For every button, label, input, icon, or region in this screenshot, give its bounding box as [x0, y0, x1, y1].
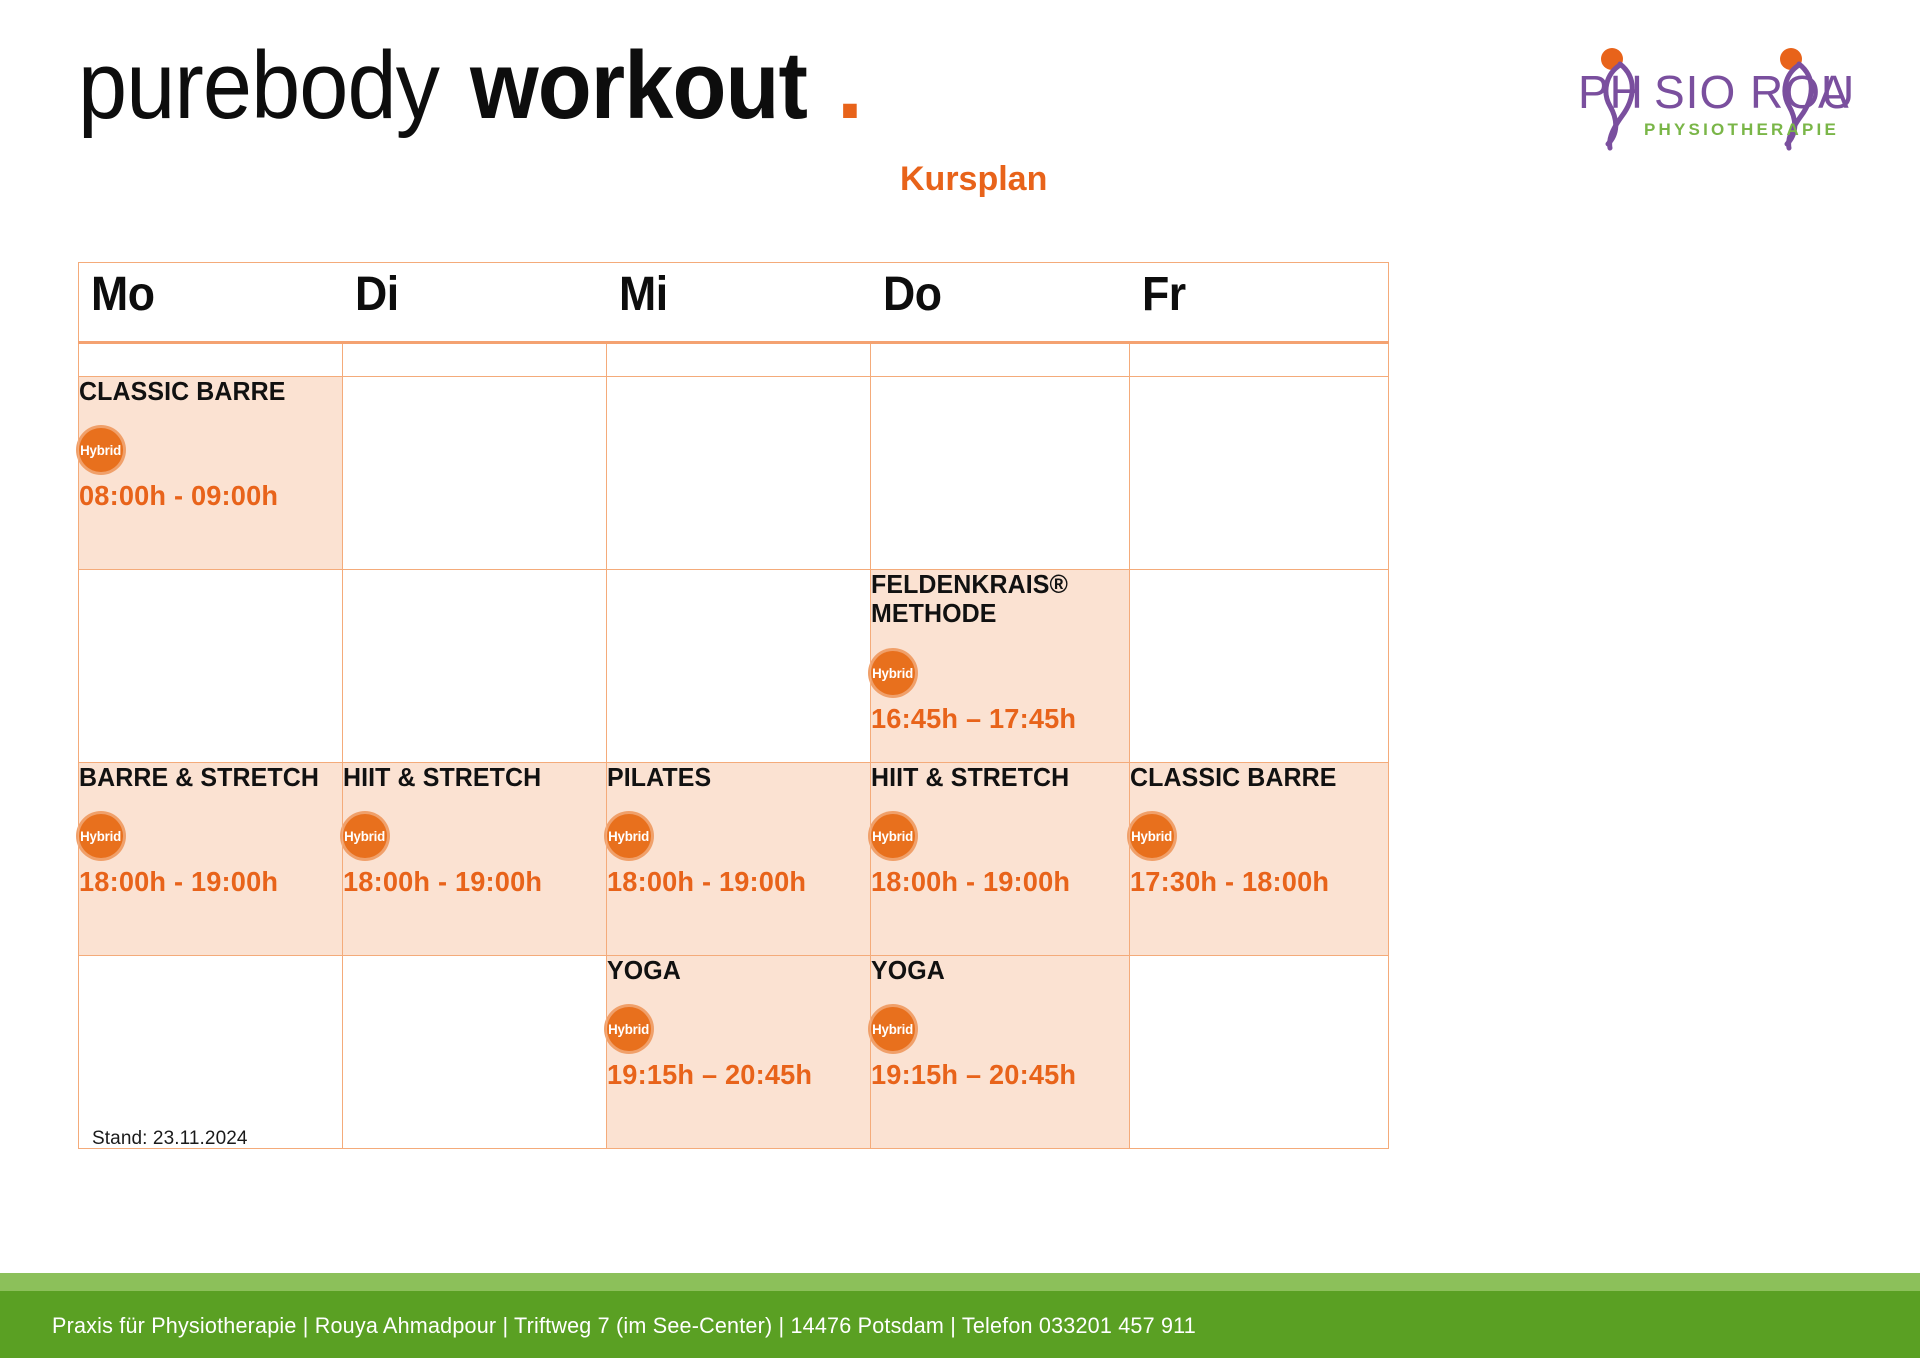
empty-cell: [1130, 570, 1389, 763]
last-updated-note: Stand: 23.11.2024: [92, 1128, 248, 1150]
physio-rousa-logo: PH SIO ROU A PHYSIOTHERAPIE: [1558, 38, 1858, 158]
class-title: HIIT & STRETCH: [343, 763, 595, 792]
class-cell[interactable]: CLASSIC BARREHybrid17:30h - 18:00h: [1130, 763, 1389, 956]
brand-logo: purebodyworkout.: [78, 38, 863, 134]
day-label: Fr: [1142, 267, 1186, 322]
hybrid-badge-label: Hybrid: [609, 828, 650, 844]
class-cell[interactable]: PILATESHybrid18:00h - 19:00h: [607, 763, 871, 956]
class-time: 17:30h - 18:00h: [1130, 866, 1380, 898]
hybrid-badge-icon: Hybrid: [871, 814, 915, 858]
hybrid-badge-icon: Hybrid: [343, 814, 387, 858]
day-header-fr: Fr: [1130, 263, 1389, 343]
day-header-di: Di: [343, 263, 607, 343]
hybrid-badge-label: Hybrid: [609, 1021, 650, 1037]
class-time: 08:00h - 09:00h: [79, 480, 334, 512]
class-title: PILATES: [607, 763, 859, 792]
class-schedule-table: Mo Di Mi Do Fr CLASSIC BARREHybrid08:00h…: [78, 262, 1389, 1149]
empty-cell: [343, 570, 607, 763]
class-title: YOGA: [871, 956, 1119, 985]
svg-text:A: A: [1818, 66, 1850, 118]
empty-cell: [607, 377, 871, 570]
class-time: 19:15h – 20:45h: [607, 1059, 862, 1091]
day-label: Mo: [91, 267, 155, 322]
hybrid-badge-icon: Hybrid: [607, 1007, 651, 1051]
empty-cell: [79, 956, 343, 1149]
class-time: 18:00h - 19:00h: [871, 866, 1121, 898]
day-header-do: Do: [871, 263, 1130, 343]
empty-cell: [1130, 343, 1389, 377]
class-title: CLASSIC BARRE: [79, 377, 331, 406]
class-title: CLASSIC BARRE: [1130, 763, 1378, 792]
footer-accent-band: [0, 1273, 1920, 1291]
day-header-mi: Mi: [607, 263, 871, 343]
day-label: Do: [883, 267, 942, 322]
schedule-body: CLASSIC BARREHybrid08:00h - 09:00hFELDEN…: [79, 343, 1389, 1149]
empty-cell: [607, 343, 871, 377]
page-header: purebodyworkout. Kursplan PH SIO ROU A P…: [0, 0, 1920, 230]
hybrid-badge-label: Hybrid: [873, 1021, 914, 1037]
class-title: HIIT & STRETCH: [871, 763, 1119, 792]
schedule-spacer-row: [79, 343, 1389, 377]
empty-cell: [343, 956, 607, 1149]
class-time: 18:00h - 19:00h: [607, 866, 862, 898]
class-cell[interactable]: HIIT & STRETCHHybrid18:00h - 19:00h: [871, 763, 1130, 956]
empty-cell: [343, 377, 607, 570]
hybrid-badge-label: Hybrid: [81, 828, 122, 844]
hybrid-badge-icon: Hybrid: [871, 1007, 915, 1051]
class-cell[interactable]: FELDENKRAIS® METHODEHybrid16:45h – 17:45…: [871, 570, 1130, 763]
svg-text:PH: PH: [1578, 66, 1644, 118]
class-time: 18:00h - 19:00h: [343, 866, 598, 898]
hybrid-badge-label: Hybrid: [81, 442, 122, 458]
brand-name-light: purebody: [78, 38, 439, 134]
hybrid-badge-icon: Hybrid: [1130, 814, 1174, 858]
empty-cell: [79, 343, 343, 377]
empty-cell: [607, 570, 871, 763]
class-cell[interactable]: BARRE & STRETCHHybrid18:00h - 19:00h: [79, 763, 343, 956]
schedule-slot-row: FELDENKRAIS® METHODEHybrid16:45h – 17:45…: [79, 570, 1389, 763]
svg-text:PHYSIOTHERAPIE: PHYSIOTHERAPIE: [1644, 120, 1839, 139]
hybrid-badge-icon: Hybrid: [607, 814, 651, 858]
class-cell[interactable]: YOGAHybrid19:15h – 20:45h: [871, 956, 1130, 1149]
schedule-slot-row: BARRE & STRETCHHybrid18:00h - 19:00hHIIT…: [79, 763, 1389, 956]
class-cell[interactable]: CLASSIC BARREHybrid08:00h - 09:00h: [79, 377, 343, 570]
schedule-slot-row: YOGAHybrid19:15h – 20:45hYOGAHybrid19:15…: [79, 956, 1389, 1149]
brand-name-bold: workout: [470, 38, 807, 134]
footer-bar: Praxis für Physiotherapie | Rouya Ahmadp…: [0, 1273, 1920, 1358]
class-title: BARRE & STRETCH: [79, 763, 331, 792]
day-label: Di: [355, 267, 399, 322]
empty-cell: [871, 377, 1130, 570]
class-time: 16:45h – 17:45h: [871, 703, 1121, 735]
class-time: 19:15h – 20:45h: [871, 1059, 1121, 1091]
hybrid-badge-icon: Hybrid: [79, 428, 123, 472]
page-title: Kursplan: [900, 160, 1047, 199]
empty-cell: [79, 570, 343, 763]
empty-cell: [343, 343, 607, 377]
day-label: Mi: [619, 267, 668, 322]
hybrid-badge-label: Hybrid: [345, 828, 386, 844]
class-cell[interactable]: HIIT & STRETCHHybrid18:00h - 19:00h: [343, 763, 607, 956]
empty-cell: [1130, 377, 1389, 570]
class-title: FELDENKRAIS® METHODE: [871, 570, 1119, 629]
day-header-mo: Mo: [79, 263, 343, 343]
schedule-slot-row: CLASSIC BARREHybrid08:00h - 09:00h: [79, 377, 1389, 570]
hybrid-badge-icon: Hybrid: [871, 651, 915, 695]
brand-dot: .: [837, 38, 864, 134]
class-title: YOGA: [607, 956, 859, 985]
empty-cell: [871, 343, 1130, 377]
footer-contact-text: Praxis für Physiotherapie | Rouya Ahmadp…: [52, 1313, 1196, 1339]
schedule-header-row: Mo Di Mi Do Fr: [79, 263, 1389, 343]
empty-cell: [1130, 956, 1389, 1149]
class-time: 18:00h - 19:00h: [79, 866, 334, 898]
hybrid-badge-label: Hybrid: [873, 665, 914, 681]
hybrid-badge-label: Hybrid: [1132, 828, 1173, 844]
hybrid-badge-icon: Hybrid: [79, 814, 123, 858]
class-cell[interactable]: YOGAHybrid19:15h – 20:45h: [607, 956, 871, 1149]
hybrid-badge-label: Hybrid: [873, 828, 914, 844]
